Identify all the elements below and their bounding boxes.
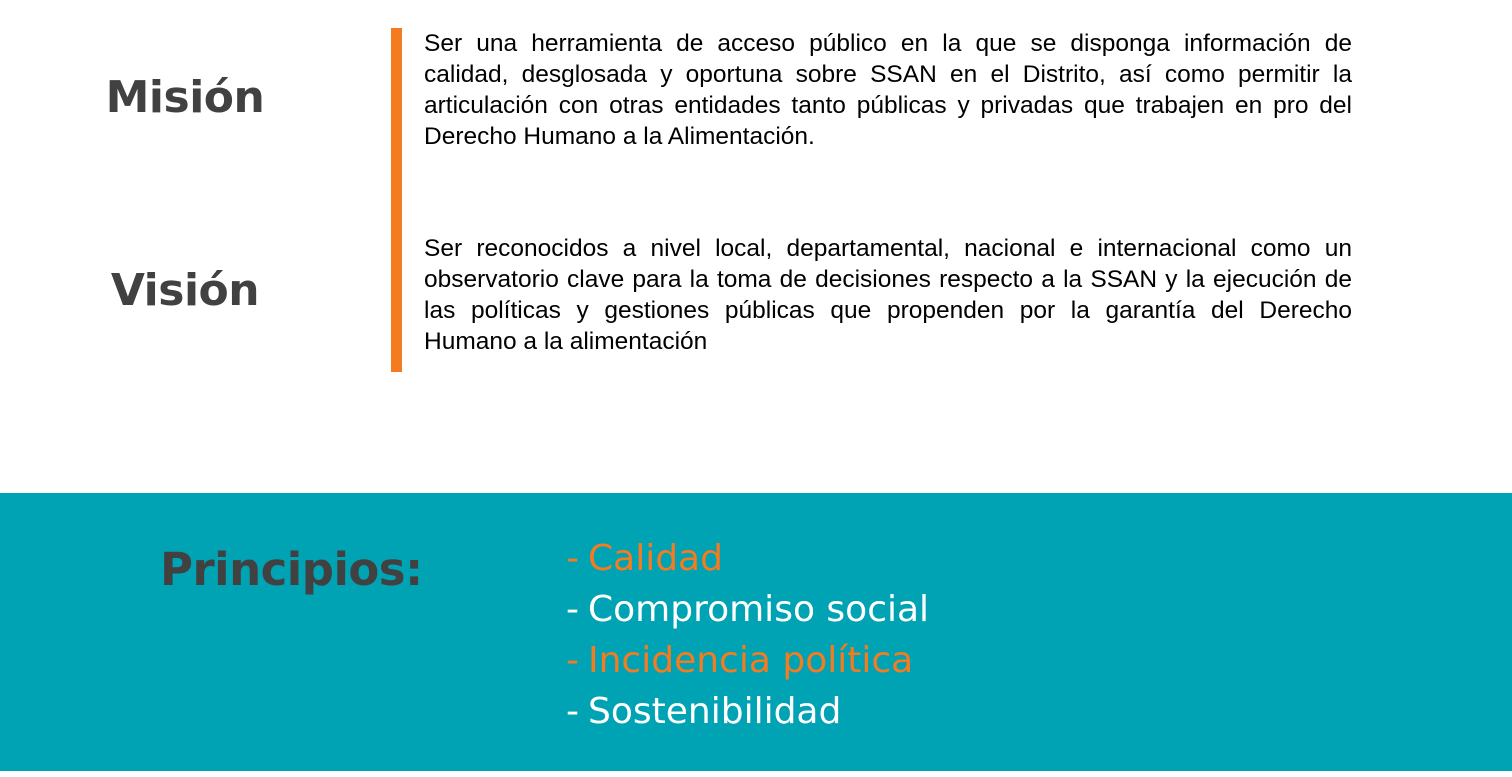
mission-vision-panel: Misión Ser una herramienta de acceso púb…	[0, 0, 1512, 493]
bullet-dash-icon: -	[566, 538, 579, 579]
bullet-dash-icon: -	[566, 691, 579, 732]
list-item-label: Sostenibilidad	[588, 691, 841, 732]
list-item: -Incidencia política	[566, 635, 929, 686]
mission-paragraph: Ser una herramienta de acceso público en…	[424, 28, 1352, 152]
list-item: -Compromiso social	[566, 584, 929, 635]
list-item-label: Compromiso social	[588, 589, 929, 630]
bullet-dash-icon: -	[566, 640, 579, 681]
principios-panel: Principios: -Calidad -Compromiso social …	[0, 493, 1512, 771]
list-item-label: Incidencia política	[588, 640, 913, 681]
vision-paragraph: Ser reconocidos a nivel local, departame…	[424, 233, 1352, 357]
principios-list: -Calidad -Compromiso social -Incidencia …	[566, 533, 929, 737]
bullet-dash-icon: -	[566, 589, 579, 630]
section-label-vision: Visión	[0, 267, 370, 315]
list-item: -Calidad	[566, 533, 929, 584]
bottom-white-strip	[0, 771, 1512, 777]
orange-divider-bar	[391, 28, 402, 372]
principios-title: Principios:	[160, 543, 423, 596]
list-item-label: Calidad	[588, 538, 723, 579]
section-label-mision: Misión	[0, 74, 370, 122]
list-item: -Sostenibilidad	[566, 686, 929, 737]
